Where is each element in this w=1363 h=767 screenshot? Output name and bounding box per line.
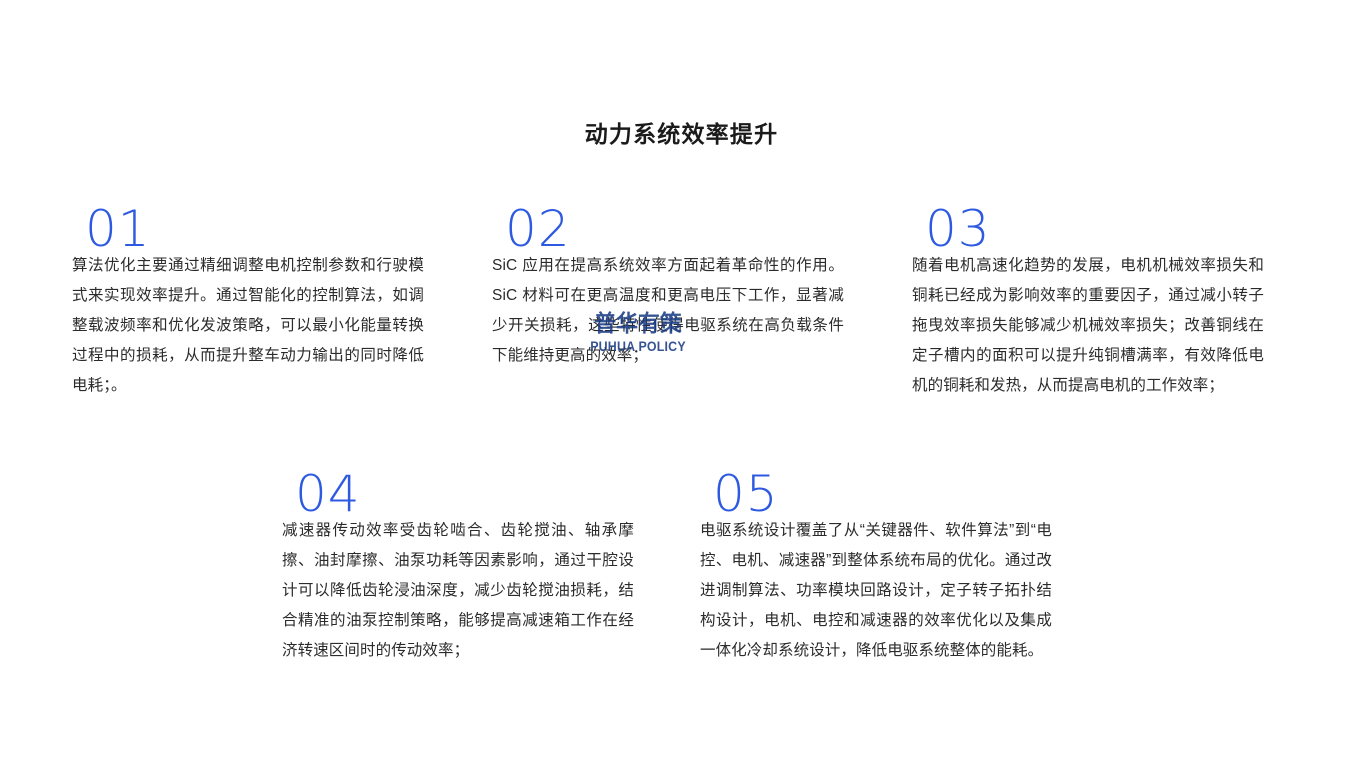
item-body: 随着电机高速化趋势的发展，电机机械效率损失和铜耗已经成为影响效率的重要因子，通过… (912, 251, 1264, 401)
item-number: 04 (295, 468, 634, 520)
slide-canvas: 动力系统效率提升 01 算法优化主要通过精细调整电机控制参数和行驶模式来实现效率… (0, 0, 1363, 767)
list-item: 04 减速器传动效率受齿轮啮合、齿轮搅油、轴承摩擦、油封摩擦、油泵功耗等因素影响… (282, 468, 634, 666)
list-item: 03 随着电机高速化趋势的发展，电机机械效率损失和铜耗已经成为影响效率的重要因子… (912, 203, 1264, 401)
list-item: 02 SiC 应用在提高系统效率方面起着革命性的作用。SiC 材料可在更高温度和… (492, 203, 844, 371)
page-title: 动力系统效率提升 (0, 118, 1363, 150)
item-number: 01 (85, 203, 424, 255)
item-body: 算法优化主要通过精细调整电机控制参数和行驶模式来实现效率提升。通过智能化的控制算… (72, 251, 424, 401)
item-number: 02 (505, 203, 844, 255)
list-item: 01 算法优化主要通过精细调整电机控制参数和行驶模式来实现效率提升。通过智能化的… (72, 203, 424, 401)
item-number: 05 (713, 468, 1052, 520)
list-item: 05 电驱系统设计覆盖了从“关键器件、软件算法”到“电控、电机、减速器”到整体系… (700, 468, 1052, 666)
item-body: 电驱系统设计覆盖了从“关键器件、软件算法”到“电控、电机、减速器”到整体系统布局… (700, 516, 1052, 666)
item-number: 03 (925, 203, 1264, 255)
item-body: SiC 应用在提高系统效率方面起着革命性的作用。SiC 材料可在更高温度和更高电… (492, 251, 844, 371)
item-body: 减速器传动效率受齿轮啮合、齿轮搅油、轴承摩擦、油封摩擦、油泵功耗等因素影响，通过… (282, 516, 634, 666)
